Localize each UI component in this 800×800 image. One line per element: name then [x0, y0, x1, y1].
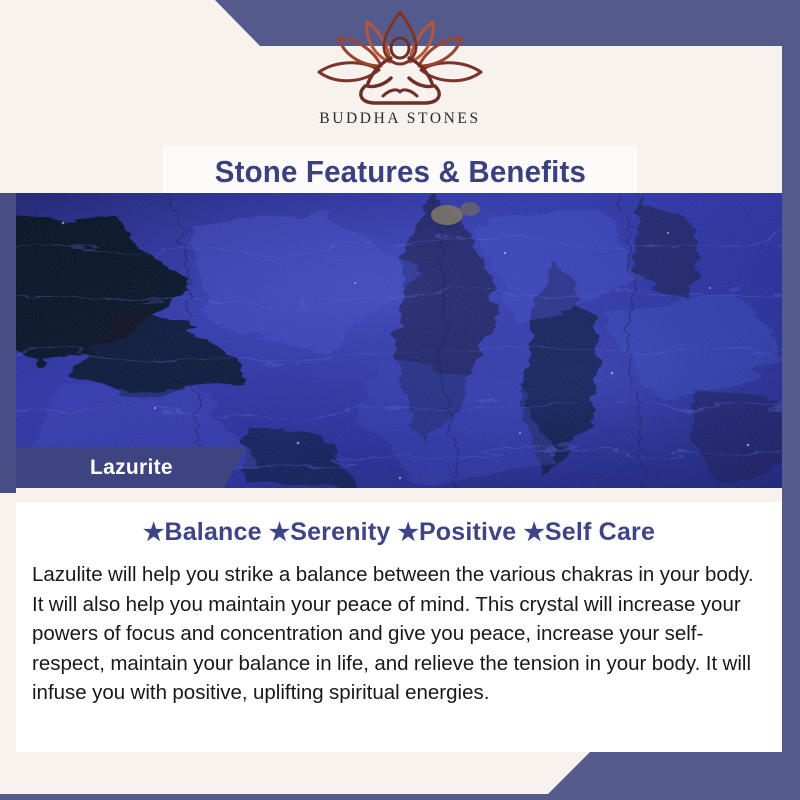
keyword-row: ★Balance ★Serenity ★Positive ★Self Care	[16, 518, 782, 547]
star-icon-1: ★	[143, 519, 165, 546]
page-title: Stone Features & Benefits	[214, 154, 585, 190]
keyword-positive: Positive	[419, 518, 516, 546]
right-frame-strip	[782, 193, 800, 493]
stone-name-banner: Lazurite	[16, 447, 246, 488]
lazurite-stone-photo	[0, 193, 800, 488]
brand-name: BUDDHA STONES	[319, 110, 480, 128]
stone-name: Lazurite	[90, 456, 173, 480]
panel-top-edge	[16, 488, 782, 502]
keyword-balance: Balance	[164, 518, 261, 546]
poster-root: BUDDHA STONES Stone Features & Benefits	[0, 0, 800, 800]
keyword-self-care: Self Care	[545, 518, 655, 546]
keyword-serenity: Serenity	[290, 518, 390, 546]
left-frame-strip	[0, 193, 16, 493]
star-icon-4: ★	[523, 519, 545, 546]
title-banner: Stone Features & Benefits	[163, 146, 637, 198]
brand-header: BUDDHA STONES	[0, 8, 800, 128]
stone-description: Lazulite will help you strike a balance …	[32, 560, 758, 708]
star-icon-3: ★	[397, 519, 419, 546]
star-icon-2: ★	[269, 519, 291, 546]
lotus-meditation-icon	[305, 8, 495, 106]
content-panel: ★Balance ★Serenity ★Positive ★Self Care …	[16, 488, 782, 752]
